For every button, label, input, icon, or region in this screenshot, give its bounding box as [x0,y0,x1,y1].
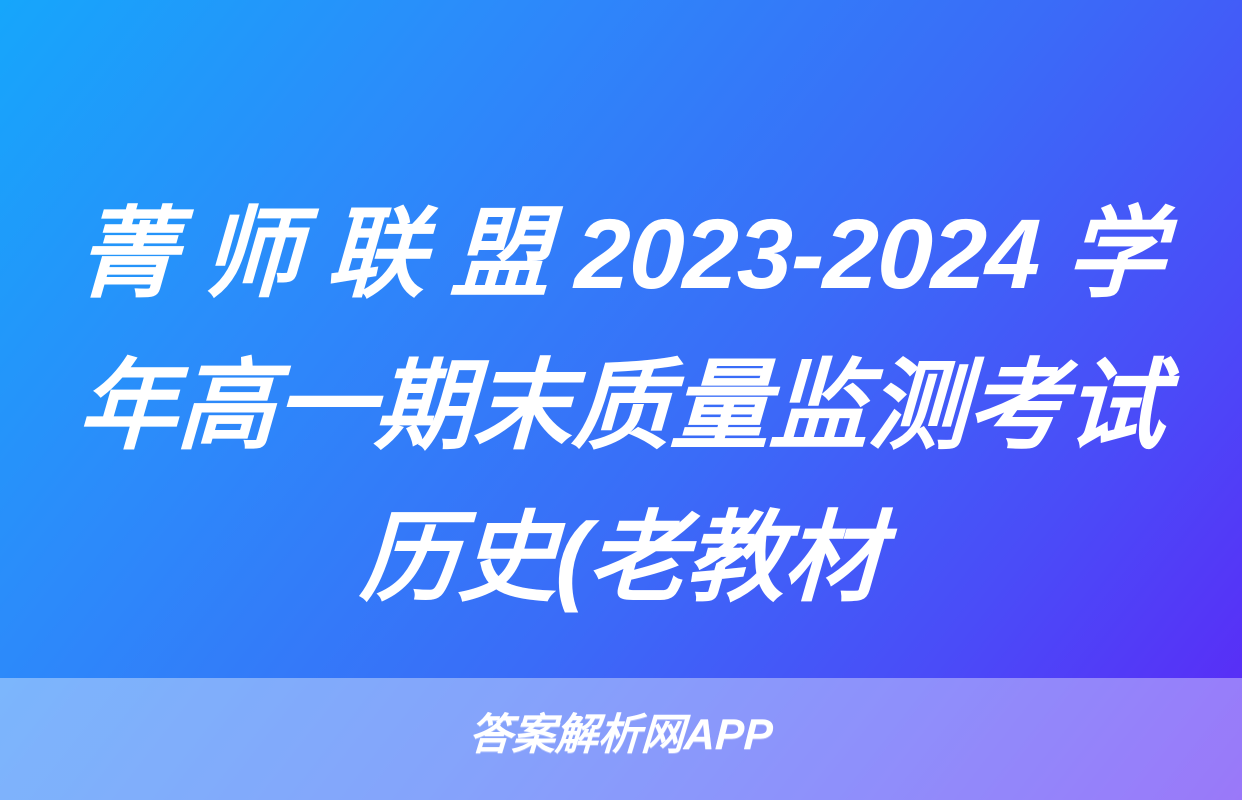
page-title: 菁师联盟2023-2024学 年高一期末质量监测考试 历史(老教材 [0,178,1242,634]
watermark-text: 答案解析网APP [0,710,1242,760]
title-line-2: 年高一期末质量监测考试 [75,330,1166,482]
title-line-1: 菁师联盟2023-2024学 [75,178,1166,330]
exam-cover-banner: 菁师联盟2023-2024学 年高一期末质量监测考试 历史(老教材 答案解析网A… [0,0,1242,800]
title-line-3: 历史(老教材 [75,482,1166,634]
